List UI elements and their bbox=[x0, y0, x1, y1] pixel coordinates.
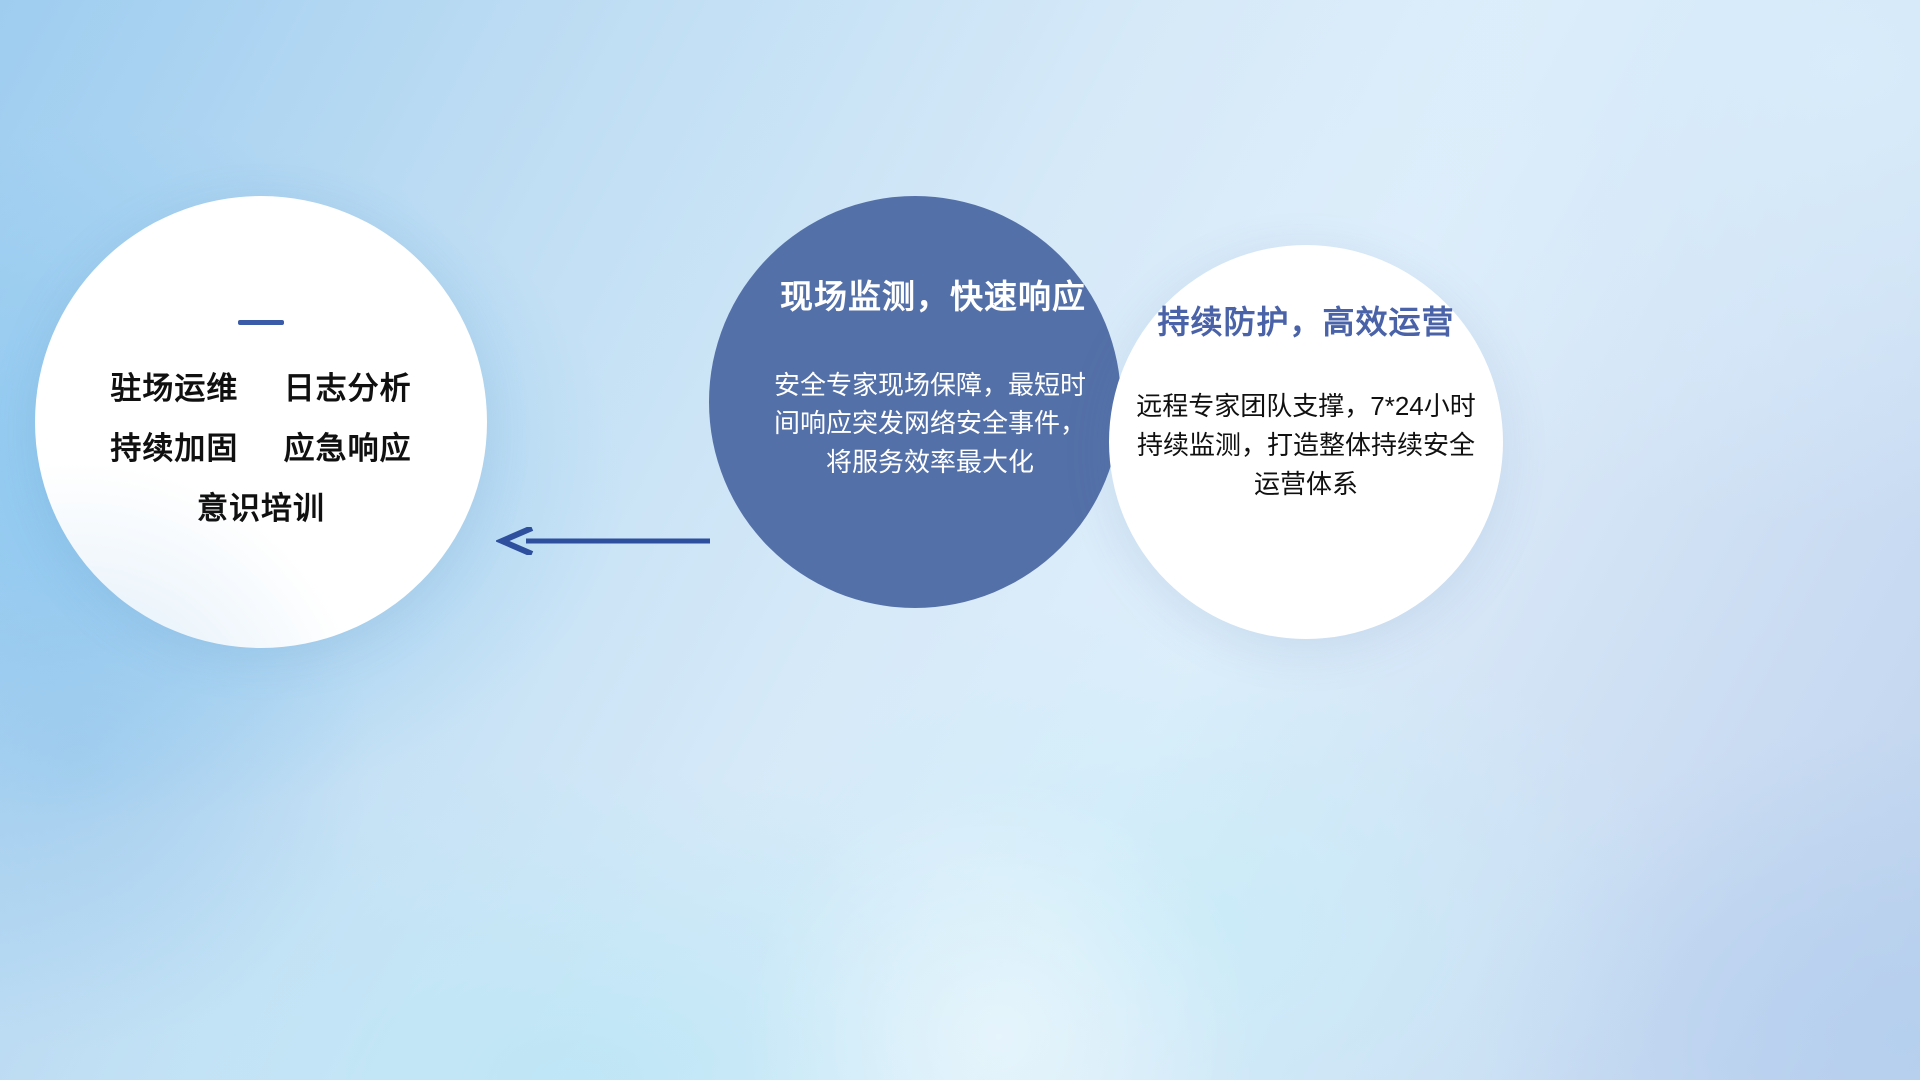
left-capability-circle: 驻场运维 日志分析 持续加固 应急响应 意识培训 bbox=[35, 196, 487, 648]
continuous-protection-circle: 持续防护，高效运营 远程专家团队支撑，7*24小时持续监测，打造整体持续安全运营… bbox=[1109, 245, 1503, 639]
continuous-protection-title: 持续防护，高效运营 bbox=[1157, 297, 1454, 343]
slide-canvas: 驻场运维 日志分析 持续加固 应急响应 意识培训 现场监测，快速响应 安全专家现… bbox=[0, 0, 1920, 1080]
onsite-monitoring-title: 现场监测，快速响应 bbox=[780, 270, 1086, 318]
capability-row: 驻场运维 日志分析 bbox=[110, 373, 411, 404]
continuous-protection-body: 远程专家团队支撑，7*24小时持续监测，打造整体持续安全运营体系 bbox=[1130, 387, 1482, 504]
capability-label: 驻场运维 bbox=[110, 371, 238, 406]
capability-label: 应急响应 bbox=[284, 431, 412, 466]
onsite-monitoring-body: 安全专家现场保障，最短时间响应突发网络安全事件，将服务效率最大化 bbox=[769, 366, 1091, 481]
capability-label: 日志分析 bbox=[284, 371, 412, 406]
arrow-left-icon bbox=[496, 527, 710, 555]
capability-row: 持续加固 应急响应 bbox=[110, 433, 411, 464]
capability-label: 意识培训 bbox=[197, 491, 325, 526]
divider-dash bbox=[238, 320, 284, 325]
capability-label: 持续加固 bbox=[110, 431, 238, 466]
onsite-monitoring-circle: 现场监测，快速响应 安全专家现场保障，最短时间响应突发网络安全事件，将服务效率最… bbox=[709, 196, 1121, 608]
capability-row: 意识培训 bbox=[197, 493, 325, 524]
